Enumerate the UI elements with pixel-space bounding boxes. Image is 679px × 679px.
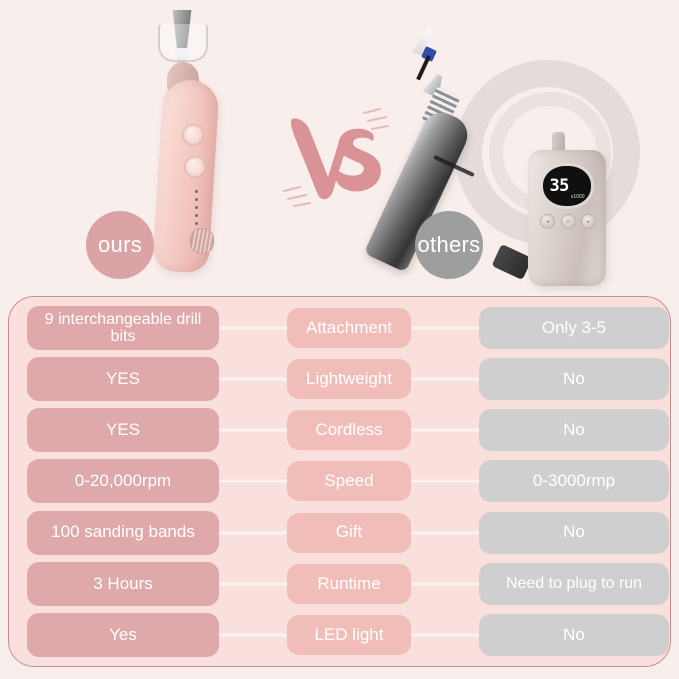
connector-line-left [217,531,295,534]
cell-others: No [479,358,669,400]
battery-indicator-dots [195,190,198,230]
prev-button-icon: ◂ [540,214,555,229]
connector-line-left [217,582,295,585]
cell-feature: LED light [287,615,411,655]
table-row: YES Lightweight No [9,357,670,401]
mode-button-icon [184,156,206,178]
next-button-icon: ▸ [581,214,596,229]
cell-ours: 100 sanding bands [27,511,219,555]
table-row: 9 interchangeable drill bits Attachment … [9,306,670,350]
power-button-icon [182,124,204,146]
control-box-buttons: ◂ ⏻ ▸ [540,214,596,229]
table-row: YES Cordless No [9,408,670,452]
connector-line-left [217,327,295,330]
ours-badge: ours [86,211,154,279]
comparison-infographic: 35 x1000 ◂ ⏻ ▸ [0,0,679,679]
connector-line-left [217,480,295,483]
connector-line-left [217,378,295,381]
cell-ours: YES [27,408,219,452]
cell-feature: Gift [287,513,411,553]
connector-line-left [217,633,295,636]
cell-ours: YES [27,357,219,401]
connector-line-right [405,531,483,534]
competitor-shaft [416,55,431,80]
connector-line-right [405,429,483,432]
cell-feature: Lightweight [287,359,411,399]
cell-ours: Yes [27,613,219,657]
power-button-icon: ⏻ [561,214,576,229]
cell-others: Only 3-5 [479,307,669,349]
chuck-cover-icon [158,24,208,62]
connector-line-left [217,429,295,432]
cell-others: No [479,409,669,451]
cell-feature: Runtime [287,564,411,604]
ours-badge-label: ours [98,232,142,258]
ours-product-image [140,4,240,272]
cell-feature: Speed [287,461,411,501]
speed-slider-icon [190,228,214,254]
comparison-table: 9 interchangeable drill bits Attachment … [8,296,671,667]
connector-line-right [405,378,483,381]
cell-others: Need to plug to run [479,563,669,605]
cell-feature: Cordless [287,410,411,450]
cell-feature: Attachment [287,308,411,348]
hero-section: 35 x1000 ◂ ⏻ ▸ [0,0,679,296]
connector-line-right [405,633,483,636]
cell-others: 0-3000rmp [479,460,669,502]
cell-others: No [479,512,669,554]
table-row: Yes LED light No [9,613,670,657]
connector-line-right [405,480,483,483]
others-badge-label: others [418,232,481,258]
control-box-display: 35 x1000 [543,166,591,206]
competitor-cord-end [492,244,533,280]
versus-graphic [280,105,390,210]
display-speed-value: 35 [549,178,568,195]
table-row: 100 sanding bands Gift No [9,511,670,555]
connector-line-right [405,582,483,585]
cell-ours: 3 Hours [27,562,219,606]
connector-line-right [405,327,483,330]
cell-ours: 9 interchangeable drill bits [27,306,219,350]
table-row: 0-20,000rpm Speed 0-3000rmp [9,459,670,503]
cell-others: No [479,614,669,656]
table-row: 3 Hours Runtime Need to plug to run [9,562,670,606]
cell-ours: 0-20,000rpm [27,459,219,503]
display-speed-unit: x1000 [571,194,585,206]
others-badge: others [415,211,483,279]
